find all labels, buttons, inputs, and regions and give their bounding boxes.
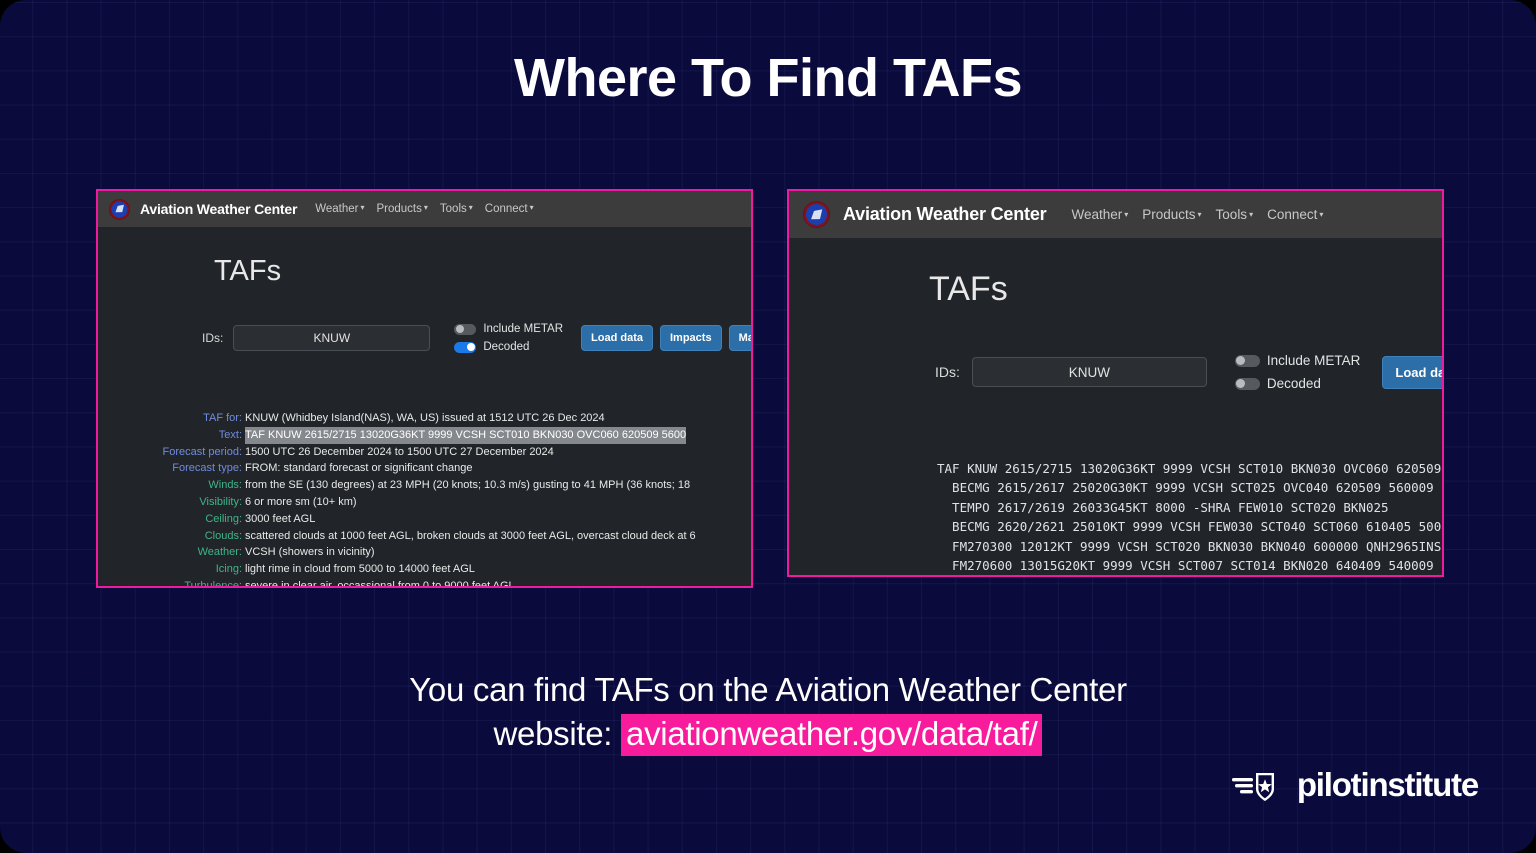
nav-item-tools[interactable]: Tools▾ [440,203,473,215]
nav-item-connect-label: Connect [485,203,528,215]
toggle-decoded[interactable]: Decoded [454,341,563,353]
toggle-decoded-label: Decoded [483,341,529,353]
toggle-decoded[interactable]: Decoded [1235,376,1361,391]
toggle-include-metar[interactable]: Include METAR [454,323,563,335]
decoded-row: Visibility:6 or more sm (10+ km) [108,494,751,511]
ids-input[interactable]: KNUW [972,357,1207,387]
decoded-row-label: Weather: [108,544,245,561]
awc-app-decoded: Aviation Weather Center Weather▾ Product… [98,191,751,586]
toggle-include-metar[interactable]: Include METAR [1235,353,1361,368]
decoded-row-label: Visibility: [108,494,245,511]
caption-line-2-prefix: website: [494,715,613,752]
decoded-row: Text:TAF KNUW 2615/2715 13020G36KT 9999 … [108,427,751,444]
decoded-row-label: Text: [108,427,245,444]
toggle-group: Include METAR Decoded [1235,353,1361,391]
page-title: Where To Find TAFs [0,49,1536,108]
nav-item-connect[interactable]: Connect▾ [1267,207,1323,222]
pilotinstitute-logo: pilotinstitute [1232,765,1478,805]
winged-shield-star-icon [1232,765,1288,805]
chevron-down-icon: ▾ [1124,210,1128,219]
button-group: Load data [1382,356,1442,389]
awc-navbar: Aviation Weather Center Weather▾ Product… [789,191,1442,238]
awc-controls: IDs: KNUW Include METAR Decoded L [935,353,1442,391]
decoded-row: Weather:VCSH (showers in vicinity) [108,544,751,561]
decoded-row-label: Turbulence: [108,578,245,586]
decoded-row-label: Icing: [108,561,245,578]
toggle-group: Include METAR Decoded [454,323,563,353]
decoded-row: Ceiling:3000 feet AGL [108,511,751,528]
decoded-row-value: severe in clear air, occassional from 0 … [245,578,515,586]
awc-menu: Weather▾ Products▾ Tools▾ Connect▾ [315,203,533,215]
toggle-switch-icon[interactable] [1235,378,1260,390]
nav-item-products[interactable]: Products▾ [1142,207,1201,222]
decoded-row-label: Ceiling: [108,511,245,528]
chevron-down-icon: ▾ [1319,210,1323,219]
chevron-down-icon: ▾ [424,203,428,212]
decoded-row: Turbulence:severe in clear air, occassio… [108,578,751,586]
awc-content-decoded: TAFs IDs: KNUW Include METAR Decoded [98,227,751,586]
nav-item-products-label: Products [377,203,422,215]
decoded-row-label: Forecast type: [108,460,245,477]
nav-item-weather-label: Weather [1071,207,1122,222]
decoded-row-value: from the SE (130 degrees) at 23 MPH (20 … [245,477,690,494]
ids-label: IDs: [202,331,223,345]
impacts-button[interactable]: Impacts [660,325,722,351]
decoded-row-label: Clouds: [108,528,245,545]
load-data-button[interactable]: Load data [581,325,653,351]
decoded-row-value: scattered clouds at 1000 feet AGL, broke… [245,528,696,545]
toggle-switch-icon[interactable] [1235,355,1260,367]
nav-item-weather[interactable]: Weather▾ [315,203,364,215]
caption-line-2: website: aviationweather.gov/data/taf/ [0,712,1536,756]
decoded-row: Forecast type:FROM: standard forecast or… [108,460,751,477]
ids-label: IDs: [935,364,960,380]
toggle-include-metar-label: Include METAR [1267,353,1361,368]
screenshot-panel-raw: Aviation Weather Center Weather▾ Product… [787,189,1444,577]
nav-item-products[interactable]: Products▾ [377,203,428,215]
slide-canvas: Where To Find TAFs Aviation Weather Cent… [0,0,1536,853]
decoded-row: Winds:from the SE (130 degrees) at 23 MP… [108,477,751,494]
decoded-row: Clouds:scattered clouds at 1000 feet AGL… [108,528,751,545]
awc-app-raw: Aviation Weather Center Weather▾ Product… [789,191,1442,575]
toggle-decoded-label: Decoded [1267,376,1321,391]
pilotinstitute-wordmark: pilotinstitute [1297,766,1478,804]
chevron-down-icon: ▾ [1198,210,1202,219]
decoded-row-value: light rime in cloud from 5000 to 14000 f… [245,561,475,578]
chevron-down-icon: ▾ [469,203,473,212]
decoded-row: Forecast period:1500 UTC 26 December 202… [108,444,751,461]
chevron-down-icon: ▾ [360,203,364,212]
nav-item-connect-label: Connect [1267,207,1317,222]
nav-item-tools-label: Tools [1216,207,1248,222]
decoded-row: TAF for:KNUW (Whidbey Island(NAS), WA, U… [108,410,751,427]
decoded-row: Icing:light rime in cloud from 5000 to 1… [108,561,751,578]
awc-menu: Weather▾ Products▾ Tools▾ Connect▾ [1071,207,1323,222]
decoded-row-value: VCSH (showers in vicinity) [245,544,375,561]
decoded-row-value: 6 or more sm (10+ km) [245,494,357,511]
awc-page-heading: TAFs [929,270,1008,309]
awc-navbar: Aviation Weather Center Weather▾ Product… [98,191,751,227]
load-data-button[interactable]: Load data [1382,356,1442,389]
nav-item-products-label: Products [1142,207,1195,222]
nav-item-weather[interactable]: Weather▾ [1071,207,1128,222]
noaa-seal-icon [109,199,130,220]
nav-item-weather-label: Weather [315,203,358,215]
button-group: Load data Impacts Map Ra [581,325,751,351]
chevron-down-icon: ▾ [530,203,534,212]
caption: You can find TAFs on the Aviation Weathe… [0,668,1536,756]
ids-input[interactable]: KNUW [233,325,430,351]
awc-controls: IDs: KNUW Include METAR Decoded L [202,323,751,353]
toggle-include-metar-label: Include METAR [483,323,563,335]
decoded-row-value: 1500 UTC 26 December 2024 to 1500 UTC 27… [245,444,554,461]
toggle-switch-icon[interactable] [454,342,476,353]
screenshot-panel-decoded: Aviation Weather Center Weather▾ Product… [96,189,753,588]
noaa-seal-icon [803,201,830,228]
toggle-switch-icon[interactable] [454,324,476,335]
caption-url[interactable]: aviationweather.gov/data/taf/ [621,714,1042,756]
awc-brand: Aviation Weather Center [843,204,1046,225]
decoded-row-label: TAF for: [108,410,245,427]
awc-content-raw: TAFs IDs: KNUW Include METAR Decoded [789,238,1442,575]
raw-taf-output: TAF KNUW 2615/2715 13020G36KT 9999 VCSH … [937,459,1442,575]
decoded-row-label: Forecast period: [108,444,245,461]
decoded-taf-output: TAF for:KNUW (Whidbey Island(NAS), WA, U… [108,410,751,586]
decoded-row-value: KNUW (Whidbey Island(NAS), WA, US) issue… [245,410,605,427]
decoded-row-label: Winds: [108,477,245,494]
nav-item-tools-label: Tools [440,203,467,215]
awc-page-heading: TAFs [214,255,281,288]
caption-line-1: You can find TAFs on the Aviation Weathe… [0,668,1536,712]
nav-item-connect[interactable]: Connect▾ [485,203,534,215]
decoded-row-value: FROM: standard forecast or significant c… [245,460,472,477]
nav-item-tools[interactable]: Tools▾ [1216,207,1254,222]
decoded-row-value: 3000 feet AGL [245,511,315,528]
awc-brand: Aviation Weather Center [140,201,297,217]
decoded-row-value: TAF KNUW 2615/2715 13020G36KT 9999 VCSH … [245,427,686,444]
map-button[interactable]: Map [729,325,751,351]
chevron-down-icon: ▾ [1249,210,1253,219]
